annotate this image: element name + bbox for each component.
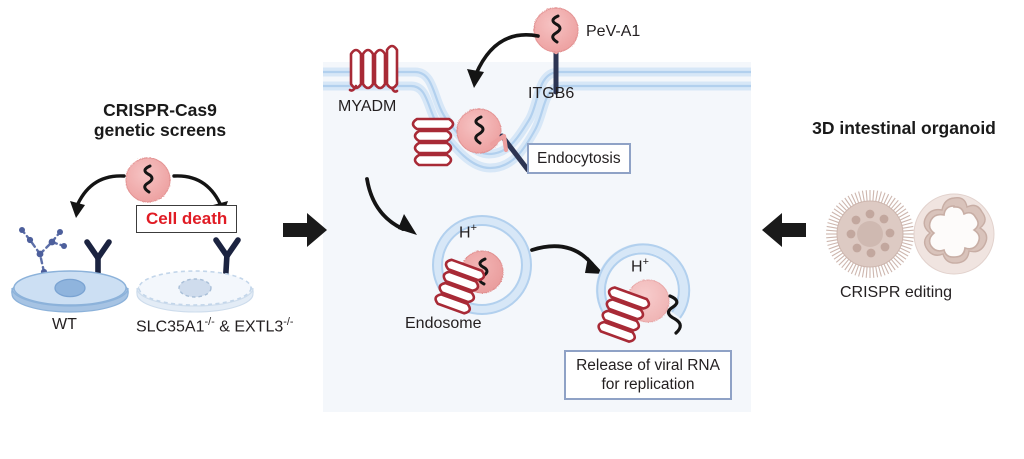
wild-type-cell-label: WT: [52, 316, 77, 334]
organoid-ciliated: [824, 188, 916, 280]
h-plus-symbol: H: [459, 224, 471, 241]
cell-death-badge: Cell death: [136, 205, 237, 233]
endosome-label: Endosome: [405, 315, 482, 333]
virus-label: PeV-A1: [586, 23, 640, 41]
myadm-protein-endosome: [432, 258, 492, 316]
right-panel-title: 3D intestinal organoid: [790, 118, 1018, 138]
left-panel-title: CRISPR-Cas9 genetic screens: [20, 100, 300, 140]
rna-release-line1: Release of viral RNA: [574, 356, 722, 375]
myadm-protein-internalized: [406, 112, 466, 170]
rna-release-step-label: Release of viral RNA for replication: [564, 350, 732, 400]
h-plus-sup: +: [471, 222, 477, 234]
myadm-protein: [345, 44, 403, 96]
ko-gene-1: SLC35A1: [136, 318, 205, 335]
left-panel-title-line2: genetic screens: [20, 120, 300, 140]
myadm-protein-releasing: [595, 285, 657, 345]
release-ph-marker: H+: [631, 256, 649, 276]
myadm-label: MYADM: [338, 98, 396, 116]
h-plus-symbol-2: H: [631, 258, 643, 275]
ko-gene-1-sup: -/-: [205, 316, 215, 328]
knockout-cell-label: SLC35A1-/- & EXTL3-/-: [136, 316, 294, 336]
right-panel-caption: CRISPR editing: [840, 284, 952, 302]
left-panel-title-line1: CRISPR-Cas9: [20, 100, 300, 120]
organoid-lumen: [908, 188, 1000, 280]
viral-rna-strand: [664, 292, 702, 340]
arrow-left-to-center: [283, 209, 329, 251]
endocytosis-step-label: Endocytosis: [527, 143, 631, 174]
endosome-ph-marker: H+: [459, 222, 477, 242]
ko-conjunction: & EXTL3: [215, 318, 283, 335]
rna-release-line2: for replication: [574, 375, 722, 394]
arrow-right-to-center: [760, 209, 806, 251]
ko-gene-2-sup: -/-: [283, 316, 293, 328]
h-plus-sup-2: +: [643, 256, 649, 268]
wild-type-cell: [8, 196, 132, 312]
arrow-virus-to-pit: [452, 28, 542, 108]
